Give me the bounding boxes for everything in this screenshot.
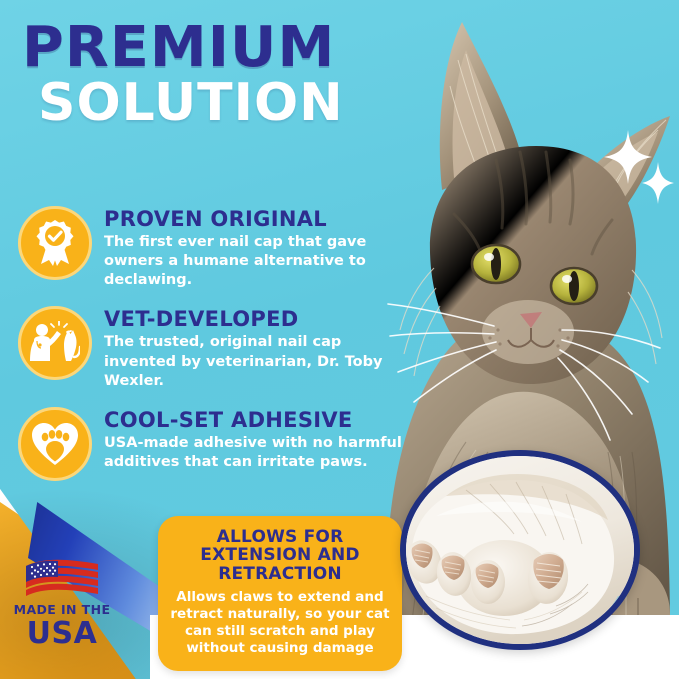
feature-title: COOL-SET ADHESIVE (104, 409, 408, 431)
feature-description: The trusted, original nail cap invented … (104, 333, 408, 390)
usa-badge-line-2: USA (10, 619, 114, 650)
feature-body: COOL-SET ADHESIVE USA-made adhesive with… (92, 405, 408, 472)
made-in-usa-badge: MADE IN THE USA (10, 556, 114, 649)
feature-title: PROVEN ORIGINAL (104, 208, 408, 230)
sparkle-stars-icon (604, 128, 674, 208)
feature-body: PROVEN ORIGINAL The first ever nail cap … (92, 204, 408, 290)
vet-high-five-cat-icon (18, 306, 92, 380)
headline-line-2: SOLUTION (38, 77, 422, 129)
extension-retraction-callout: ALLOWS FOR EXTENSION AND RETRACTION Allo… (158, 516, 402, 671)
headline-line-1: PREMIUM (22, 22, 430, 75)
cat-paw-closeup-oval-photo (400, 450, 640, 650)
feature-title: VET-DEVELOPED (104, 308, 408, 330)
callout-title: ALLOWS FOR EXTENSION AND RETRACTION (168, 528, 392, 583)
callout-description: Allows claws to extend and retract natur… (168, 589, 392, 657)
headline: PREMIUM SOLUTION (22, 22, 422, 129)
feature-description: The first ever nail cap that gave owners… (104, 233, 408, 290)
award-ribbon-check-icon (18, 206, 92, 280)
usa-flag-icon (24, 556, 100, 600)
feature-list: PROVEN ORIGINAL The first ever nail cap … (18, 204, 408, 495)
feature-item: PROVEN ORIGINAL The first ever nail cap … (18, 204, 408, 290)
product-infographic: PREMIUM SOLUTION PROVEN ORIGINAL The (0, 0, 679, 679)
usa-badge-line-1: MADE IN THE (10, 604, 114, 617)
feature-item: COOL-SET ADHESIVE USA-made adhesive with… (18, 405, 408, 481)
feature-body: VET-DEVELOPED The trusted, original nail… (92, 304, 408, 390)
heart-paw-icon (18, 407, 92, 481)
feature-item: VET-DEVELOPED The trusted, original nail… (18, 304, 408, 390)
feature-description: USA-made adhesive with no harmful additi… (104, 434, 408, 472)
